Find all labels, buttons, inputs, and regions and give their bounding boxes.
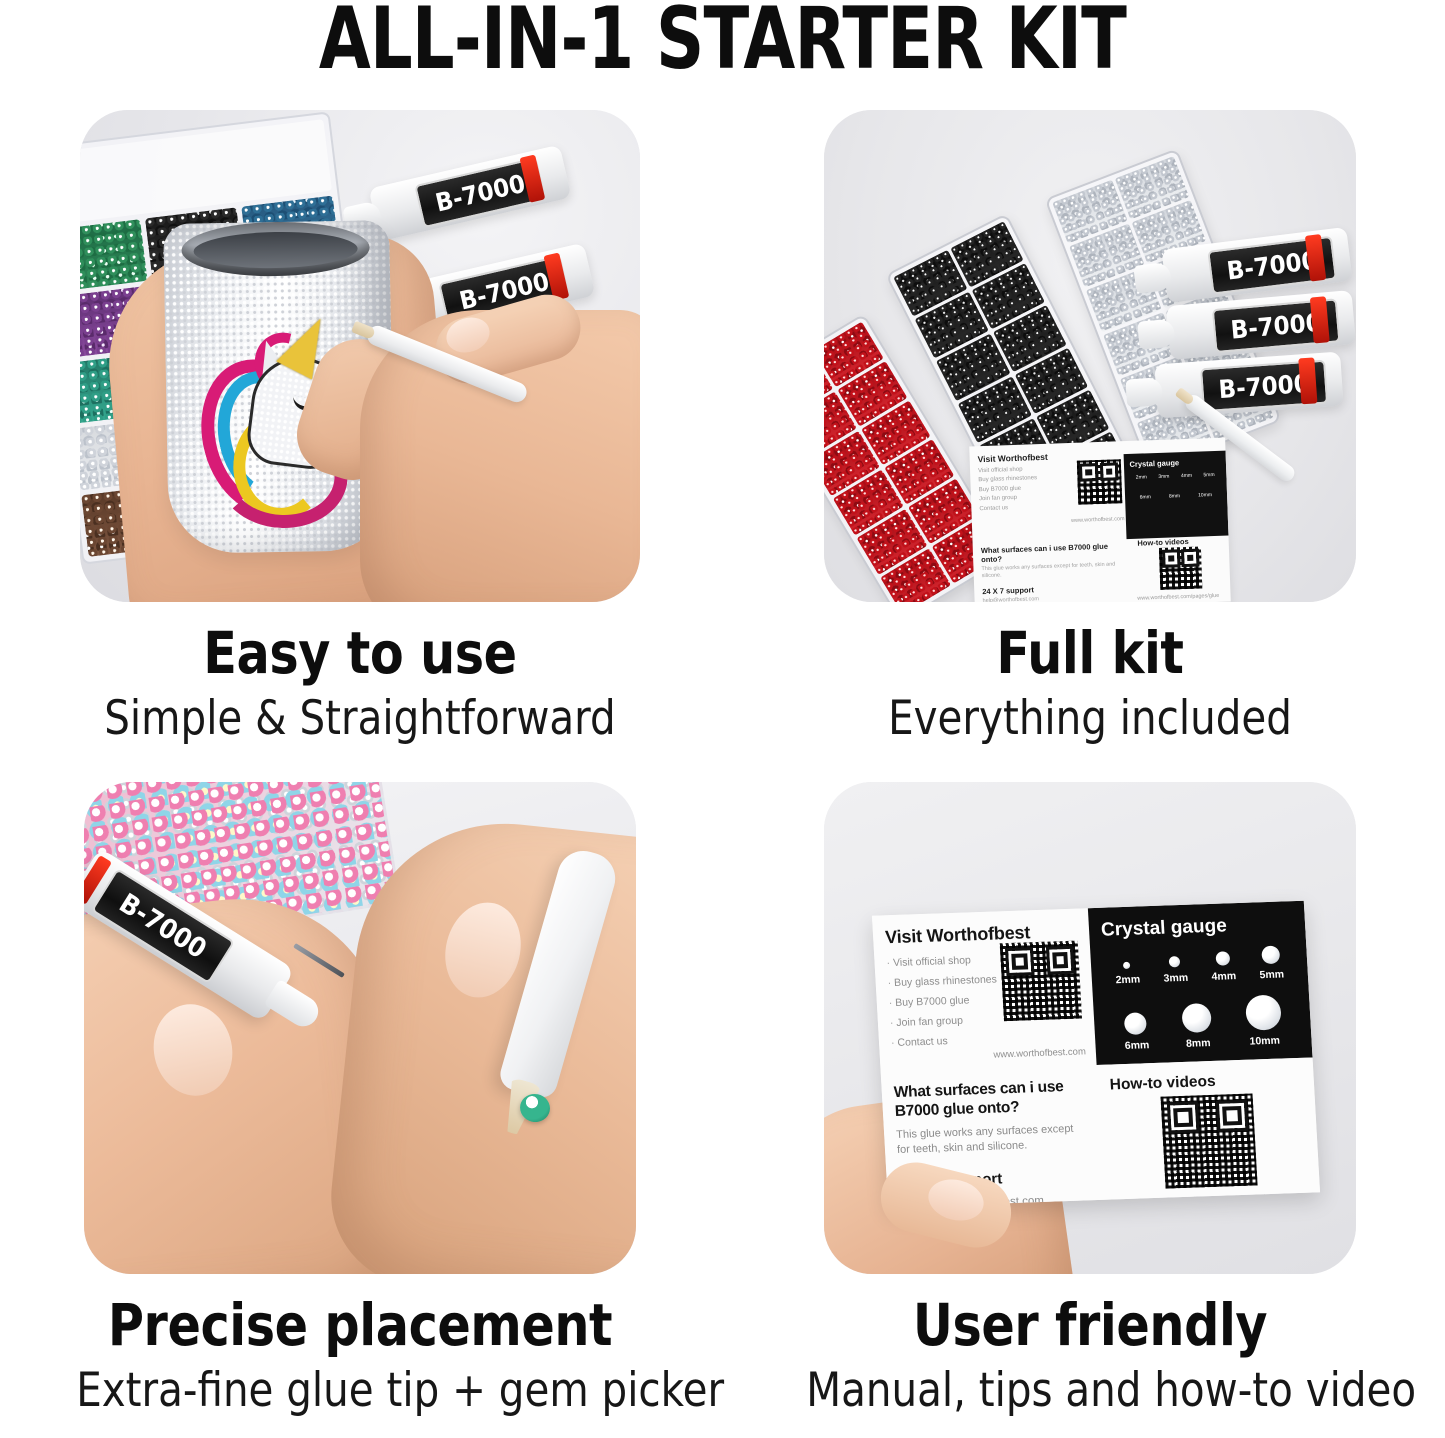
feature-cell-precise-placement: B-7000 Precise placement Extra-fine glue… [30, 768, 690, 1438]
feature-subheading: Simple & Straightforward [76, 694, 644, 743]
tumbler-rim [181, 220, 370, 277]
gauge-item: 3mm [1162, 956, 1188, 985]
card-visit-item: Contact us [891, 1030, 1084, 1049]
card-gauge-title: Crystal gauge [1129, 457, 1220, 469]
gauge-size: 5mm [1259, 968, 1284, 981]
card-howto-url: www.worthofbest.com/pages/glue [1137, 593, 1219, 602]
glue-nozzle [1125, 377, 1163, 407]
gauge-size: 10mm [1247, 1035, 1283, 1048]
gauge-dot [1123, 962, 1130, 969]
qr-code-howto [1160, 1094, 1257, 1189]
gauge-size: 6mm [1124, 1039, 1149, 1052]
crystal-gauge-section: Crystal gauge 2mm 3mm 4mm [1088, 901, 1313, 1065]
caption-easy-to-use: Easy to use Simple & Straightforward [30, 624, 690, 743]
page-title: ALL-IN-1 STARTER KIT [159, 0, 1286, 84]
caption-user-friendly: User friendly Manual, tips and how-to vi… [760, 1296, 1420, 1415]
feature-heading: Precise placement [80, 1296, 641, 1354]
gauge-dot [1124, 1012, 1147, 1035]
gauge-size: 2mm [1136, 474, 1147, 480]
instruction-card-small: Visit Worthofbest Visit official shop Bu… [969, 438, 1231, 602]
card-visit-url: www.worthofbest.com [993, 1046, 1086, 1060]
card-question-title: What surfaces can i use B7000 glue onto? [981, 541, 1124, 564]
gauge-dot [1261, 946, 1280, 965]
card-visit-section: Visit Worthofbest Visit official shop Bu… [872, 908, 1097, 1072]
qr-code-shop [1000, 941, 1082, 1022]
card-question-title: What surfaces can i use B7000 glue onto? [893, 1077, 1087, 1121]
photo-full-kit: B-7000 B-7000 B-7000 Visit Worthofbest V… [824, 110, 1356, 602]
gauge-item: 4mm [1210, 951, 1236, 983]
card-howto-section: How-to videos www.worthofbest.com/pages/… [1097, 1057, 1320, 1207]
gauge-item: 8mm [1182, 1003, 1214, 1050]
glue-red-stripe [1298, 357, 1317, 404]
gauge-size: 8mm [1183, 1037, 1213, 1050]
feature-subheading: Extra-fine glue tip + gem picker [76, 1366, 644, 1415]
gauge-dot [1169, 956, 1181, 967]
gauge-size: 2mm [1115, 973, 1140, 986]
gauge-dot [1215, 951, 1230, 965]
card-gauge-title: Crystal gauge [1101, 913, 1294, 942]
gauge-dot [1182, 1003, 1213, 1033]
photo-user-friendly: Visit Worthofbest Visit official shop Bu… [824, 782, 1356, 1274]
gauge-dot [1245, 995, 1282, 1031]
crystal-gauge-small: Crystal gauge 2mm 3mm 4mm 5mm 6mm 8mm 10… [1123, 451, 1228, 540]
photo-precise-placement: B-7000 [84, 782, 636, 1274]
gauge-size: 6mm [1140, 494, 1151, 500]
feature-cell-user-friendly: Visit Worthofbest Visit official shop Bu… [760, 768, 1420, 1438]
photo-easy-to-use: B-7000 B-7000 [80, 110, 640, 602]
qr-code-shop [1076, 459, 1122, 505]
feature-heading: Easy to use [80, 624, 641, 682]
gauge-item: 5mm [1258, 945, 1284, 981]
gauge-row-large: 6mm 8mm 10mm [1105, 994, 1300, 1053]
gauge-size: 4mm [1181, 473, 1192, 479]
feature-subheading: Everything included [806, 694, 1374, 743]
card-visit-url: www.worthofbest.com [1071, 516, 1125, 524]
feature-cell-easy-to-use: B-7000 B-7000 [30, 96, 690, 768]
gauge-item: 10mm [1245, 995, 1283, 1048]
card-howto-title: How-to videos [1109, 1070, 1302, 1095]
gauge-size: 3mm [1158, 474, 1169, 480]
gauge-size: 3mm [1163, 972, 1188, 985]
feature-subheading: Manual, tips and how-to video [806, 1366, 1374, 1415]
card-howto-title: How-to videos [1137, 536, 1223, 548]
card-question-body: This glue works any surfaces except for … [896, 1122, 1090, 1158]
feature-grid: B-7000 B-7000 [0, 96, 1445, 1438]
card-question-body: This glue works any surfaces except for … [981, 561, 1124, 581]
caption-precise-placement: Precise placement Extra-fine glue tip + … [30, 1296, 690, 1415]
instruction-card: Visit Worthofbest Visit official shop Bu… [872, 901, 1320, 1208]
gauge-item: 6mm [1123, 1012, 1150, 1052]
gauge-size: 5mm [1203, 472, 1214, 478]
feature-cell-full-kit: B-7000 B-7000 B-7000 Visit Worthofbest V… [760, 96, 1420, 768]
gauge-size: 8mm [1169, 493, 1180, 499]
gauge-item: 2mm [1115, 961, 1141, 986]
glue-nozzle [1133, 262, 1172, 294]
gauge-size: 10mm [1198, 492, 1212, 498]
qr-code-howto [1159, 546, 1202, 589]
glue-nozzle [1137, 319, 1175, 350]
gauge-row-small: 2mm 3mm 4mm 5mm [1102, 945, 1296, 987]
feature-heading: Full kit [810, 624, 1371, 682]
gauge-size: 4mm [1211, 970, 1236, 983]
feature-heading: User friendly [810, 1296, 1371, 1354]
caption-full-kit: Full kit Everything included [760, 624, 1420, 743]
